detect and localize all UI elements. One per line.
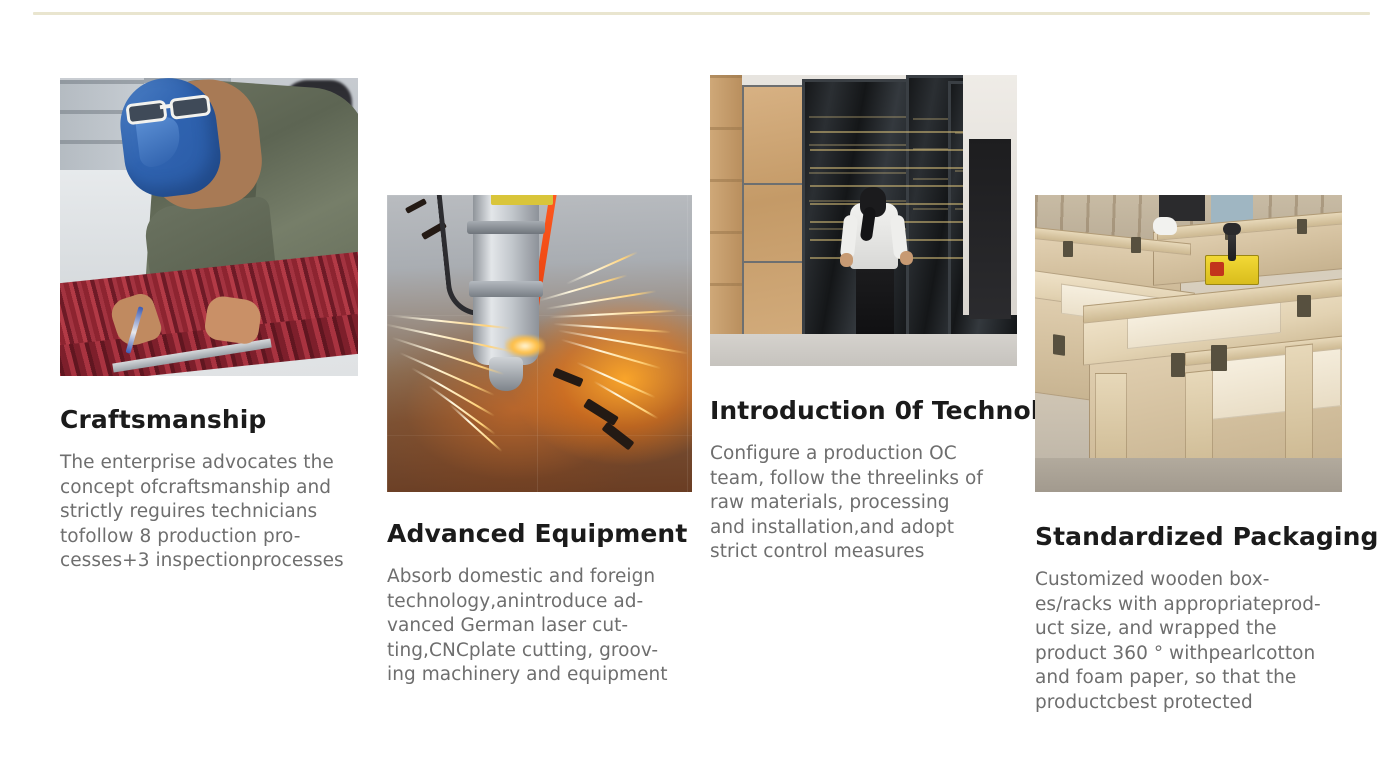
feature-card-standardized-packaging: Standardized Packaging Customized wooden… bbox=[1035, 195, 1355, 715]
door-showroom-photo bbox=[710, 75, 1017, 366]
card-title-standardized-packaging: Standardized Packaging bbox=[1035, 522, 1355, 551]
card-body-craftsmanship: The enterprise advocates the concept ofc… bbox=[60, 451, 380, 574]
wooden-crates-photo bbox=[1035, 195, 1342, 492]
laser-cutting-sparks-photo bbox=[387, 195, 692, 492]
feature-card-craftsmanship: Craftsmanship The enterprise advocates t… bbox=[60, 78, 380, 574]
feature-grid-page: Craftsmanship The enterprise advocates t… bbox=[0, 0, 1394, 759]
card-title-craftsmanship: Craftsmanship bbox=[60, 405, 380, 434]
top-divider-rule bbox=[33, 12, 1370, 15]
card-body-advanced-equipment: Absorb domestic and foreign technology,a… bbox=[387, 565, 697, 688]
card-body-standardized-packaging: Customized wooden box- es/racks with app… bbox=[1035, 568, 1355, 715]
worker-marking-steel-photo bbox=[60, 78, 358, 376]
card-title-introduction-of-technology: Introduction 0f Technology bbox=[710, 396, 1030, 425]
card-title-advanced-equipment: Advanced Equipment bbox=[387, 519, 697, 548]
card-body-introduction-of-technology: Configure a production OC team, follow t… bbox=[710, 442, 1030, 565]
feature-card-introduction-of-technology: Introduction 0f Technology Configure a p… bbox=[710, 75, 1030, 565]
feature-card-advanced-equipment: Advanced Equipment Absorb domestic and f… bbox=[387, 195, 697, 688]
